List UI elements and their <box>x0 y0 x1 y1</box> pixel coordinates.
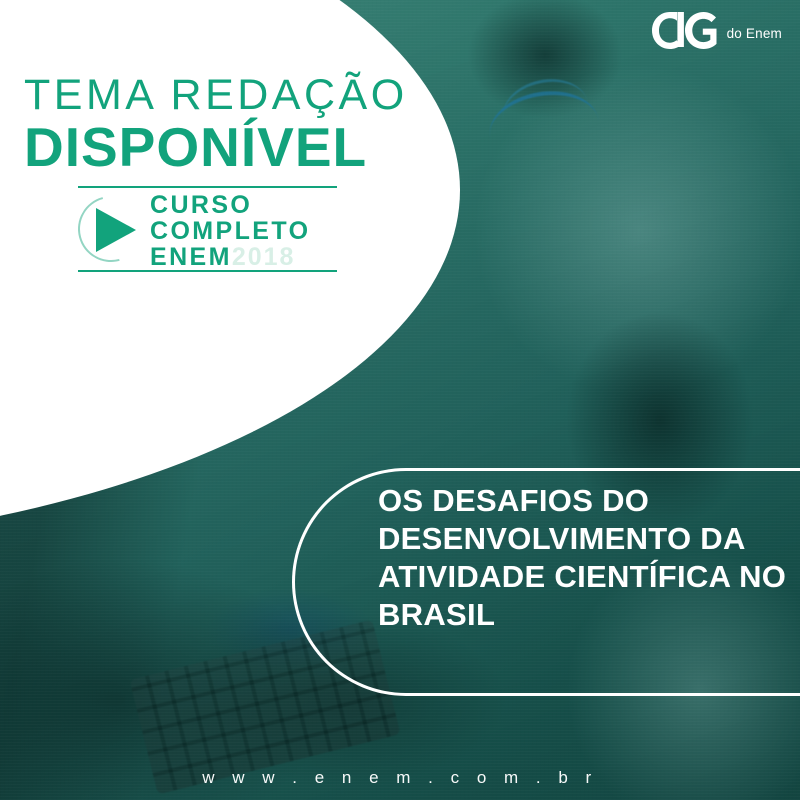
qg-monogram-icon <box>648 10 722 59</box>
course-label-line2: COMPLETO <box>150 218 310 244</box>
divider-top <box>78 186 337 188</box>
course-label: CURSO COMPLETO ENEM2018 <box>150 192 310 270</box>
course-block: CURSO COMPLETO ENEM2018 <box>78 192 340 268</box>
brand-logo[interactable]: do Enem <box>648 10 782 59</box>
essay-theme-title: OS DESAFIOS DO DESENVOLVIMENTO DA ATIVID… <box>378 482 798 634</box>
headline-tema-redacao: TEMA REDAÇÃO <box>24 74 424 117</box>
play-button[interactable] <box>78 196 150 266</box>
poster-canvas: do Enem TEMA REDAÇÃO DISPONÍVEL CURSO CO… <box>0 0 800 800</box>
play-triangle-icon <box>96 208 136 252</box>
logo-text: do Enem <box>727 26 782 43</box>
header-block: TEMA REDAÇÃO DISPONÍVEL <box>24 74 424 179</box>
course-label-line3-row: ENEM2018 <box>150 244 310 270</box>
headline-disponivel: DISPONÍVEL <box>24 117 424 179</box>
course-label-line3: ENEM <box>150 243 232 271</box>
course-year: 2018 <box>232 243 296 271</box>
course-label-line1: CURSO <box>150 192 310 218</box>
footer-website-url[interactable]: w w w . e n e m . c o m . b r <box>0 768 800 788</box>
